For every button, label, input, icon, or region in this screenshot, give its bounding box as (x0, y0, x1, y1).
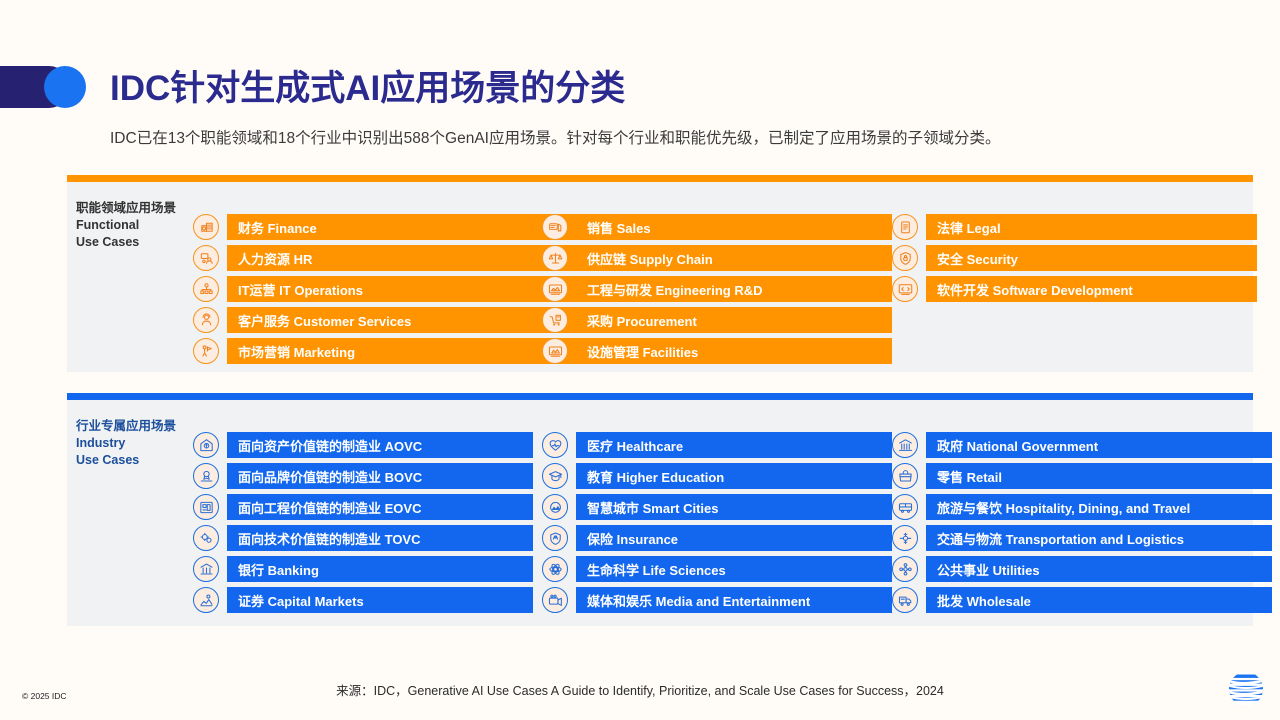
use-case-row[interactable]: IT运营 IT Operations (193, 276, 582, 302)
use-case-label: 公共事业 Utilities (926, 556, 1272, 582)
government-icon (892, 432, 918, 458)
use-case-label: 智慧城市 Smart Cities (576, 494, 892, 520)
use-case-row[interactable]: 公共事业 Utilities (892, 556, 1272, 582)
use-case-label: 软件开发 Software Development (926, 276, 1257, 302)
supply-chain-icon (542, 245, 568, 271)
media-entertainment-icon (542, 587, 568, 613)
use-case-label: 供应链 Supply Chain (576, 245, 892, 271)
finance-icon (193, 214, 219, 240)
sales-icon (542, 214, 568, 240)
idc-circle-logo-icon (1226, 669, 1266, 709)
education-icon (542, 463, 568, 489)
use-case-label: 旅游与餐饮 Hospitality, Dining, and Travel (926, 494, 1272, 520)
use-case-label: 面向工程价值链的制造业 EOVC (227, 494, 533, 520)
use-case-label: 零售 Retail (926, 463, 1272, 489)
use-case-row[interactable]: 医疗 Healthcare (542, 432, 892, 458)
customer-service-icon (193, 307, 219, 333)
use-case-label: 采购 Procurement (576, 307, 892, 333)
use-case-label: 教育 Higher Education (576, 463, 892, 489)
use-case-label: IT运营 IT Operations (227, 276, 582, 302)
insurance-icon (542, 525, 568, 551)
use-case-row[interactable]: 设施管理 Facilities (542, 338, 892, 364)
use-case-label: 面向资产价值链的制造业 AOVC (227, 432, 533, 458)
software-development-icon (892, 276, 918, 302)
use-case-label: 设施管理 Facilities (576, 338, 892, 364)
use-case-row[interactable]: 保险 Insurance (542, 525, 892, 551)
facilities-icon (542, 338, 568, 364)
wholesale-icon (892, 587, 918, 613)
use-case-label: 银行 Banking (227, 556, 533, 582)
use-case-row[interactable]: 工程与研发 Engineering R&D (542, 276, 892, 302)
use-case-row[interactable]: 证券 Capital Markets (193, 587, 533, 613)
use-case-label: 工程与研发 Engineering R&D (576, 276, 892, 302)
engineering-rd-icon (542, 276, 568, 302)
use-case-row[interactable]: 媒体和娱乐 Media and Entertainment (542, 587, 892, 613)
hospitality-icon (892, 494, 918, 520)
use-case-row[interactable]: 零售 Retail (892, 463, 1272, 489)
use-case-row[interactable]: 人力资源 HR (193, 245, 582, 271)
use-case-label: 政府 National Government (926, 432, 1272, 458)
use-case-label: 生命科学 Life Sciences (576, 556, 892, 582)
page-header: IDC针对生成式AI应用场景的分类 IDC已在13个职能领域和18个行业中识别出… (0, 0, 1280, 170)
healthcare-icon (542, 432, 568, 458)
use-case-row[interactable]: 面向技术价值链的制造业 TOVC (193, 525, 533, 551)
marketing-icon (193, 338, 219, 364)
retail-icon (892, 463, 918, 489)
use-case-label: 市场营销 Marketing (227, 338, 582, 364)
column-2: 医疗 Healthcare教育 Higher Education智慧城市 Sma… (542, 400, 892, 626)
column-2: 销售 Sales供应链 Supply Chain工程与研发 Engineerin… (542, 182, 892, 372)
banking-icon (193, 556, 219, 582)
column-3: 政府 National Government零售 Retail旅游与餐饮 Hos… (892, 400, 1272, 626)
use-case-row[interactable]: 软件开发 Software Development (892, 276, 1257, 302)
use-case-row[interactable]: 财务 Finance (193, 214, 582, 240)
use-case-label: 保险 Insurance (576, 525, 892, 551)
use-case-label: 财务 Finance (227, 214, 582, 240)
use-case-label: 法律 Legal (926, 214, 1257, 240)
use-case-label: 人力资源 HR (227, 245, 582, 271)
utilities-icon (892, 556, 918, 582)
brand-dot-shape (44, 66, 86, 108)
use-case-row[interactable]: 政府 National Government (892, 432, 1272, 458)
use-case-row[interactable]: 面向工程价值链的制造业 EOVC (193, 494, 533, 520)
use-case-row[interactable]: 面向资产价值链的制造业 AOVC (193, 432, 533, 458)
use-case-row[interactable]: 客户服务 Customer Services (193, 307, 582, 333)
page-subtitle: IDC已在13个职能领域和18个行业中识别出588个GenAI应用场景。针对每个… (110, 128, 1210, 150)
use-case-row[interactable]: 市场营销 Marketing (193, 338, 582, 364)
section-body: 行业专属应用场景IndustryUse Cases面向资产价值链的制造业 AOV… (67, 400, 1253, 626)
use-case-label: 面向技术价值链的制造业 TOVC (227, 525, 533, 551)
use-case-label: 销售 Sales (576, 214, 892, 240)
use-case-label: 客户服务 Customer Services (227, 307, 582, 333)
engineering-value-chain-icon (193, 494, 219, 520)
use-case-row[interactable]: 法律 Legal (892, 214, 1257, 240)
use-case-label: 安全 Security (926, 245, 1257, 271)
hr-icon (193, 245, 219, 271)
use-case-label: 批发 Wholesale (926, 587, 1272, 613)
security-shield-icon (892, 245, 918, 271)
it-operations-icon (193, 276, 219, 302)
page-title: IDC针对生成式AI应用场景的分类 (110, 69, 625, 109)
use-case-row[interactable]: 生命科学 Life Sciences (542, 556, 892, 582)
section-accent-bar (67, 175, 1253, 182)
life-sciences-icon (542, 556, 568, 582)
use-case-row[interactable]: 批发 Wholesale (892, 587, 1272, 613)
use-case-label: 媒体和娱乐 Media and Entertainment (576, 587, 892, 613)
brand-value-chain-icon (193, 463, 219, 489)
use-case-row[interactable]: 安全 Security (892, 245, 1257, 271)
use-case-row[interactable]: 智慧城市 Smart Cities (542, 494, 892, 520)
section-industry: 行业专属应用场景IndustryUse Cases面向资产价值链的制造业 AOV… (67, 393, 1253, 626)
use-case-label: 交通与物流 Transportation and Logistics (926, 525, 1272, 551)
use-case-row[interactable]: 银行 Banking (193, 556, 533, 582)
use-case-row[interactable]: 采购 Procurement (542, 307, 892, 333)
asset-value-chain-icon (193, 432, 219, 458)
procurement-icon (542, 307, 568, 333)
use-case-label: 证券 Capital Markets (227, 587, 533, 613)
column-1: 面向资产价值链的制造业 AOVC面向品牌价值链的制造业 BOVC面向工程价值链的… (193, 400, 533, 626)
use-case-label: 面向品牌价值链的制造业 BOVC (227, 463, 533, 489)
legal-icon (892, 214, 918, 240)
smart-cities-icon (542, 494, 568, 520)
technology-value-chain-icon (193, 525, 219, 551)
column-1: 财务 Finance人力资源 HRIT运营 IT Operations客户服务 … (193, 182, 582, 372)
section-body: 职能领域应用场景FunctionalUse Cases财务 Finance人力资… (67, 182, 1253, 372)
section-functional: 职能领域应用场景FunctionalUse Cases财务 Finance人力资… (67, 175, 1253, 372)
use-case-row[interactable]: 旅游与餐饮 Hospitality, Dining, and Travel (892, 494, 1272, 520)
source-note: 来源：IDC，Generative AI Use Cases A Guide t… (0, 680, 1280, 699)
use-case-row[interactable]: 教育 Higher Education (542, 463, 892, 489)
use-case-row[interactable]: 交通与物流 Transportation and Logistics (892, 525, 1272, 551)
section-accent-bar (67, 393, 1253, 400)
use-case-row[interactable]: 供应链 Supply Chain (542, 245, 892, 271)
use-case-row[interactable]: 销售 Sales (542, 214, 892, 240)
column-3: 法律 Legal安全 Security软件开发 Software Develop… (892, 182, 1257, 372)
use-case-label: 医疗 Healthcare (576, 432, 892, 458)
capital-markets-icon (193, 587, 219, 613)
use-case-row[interactable]: 面向品牌价值链的制造业 BOVC (193, 463, 533, 489)
brand-mark-icon (0, 66, 90, 108)
transportation-icon (892, 525, 918, 551)
